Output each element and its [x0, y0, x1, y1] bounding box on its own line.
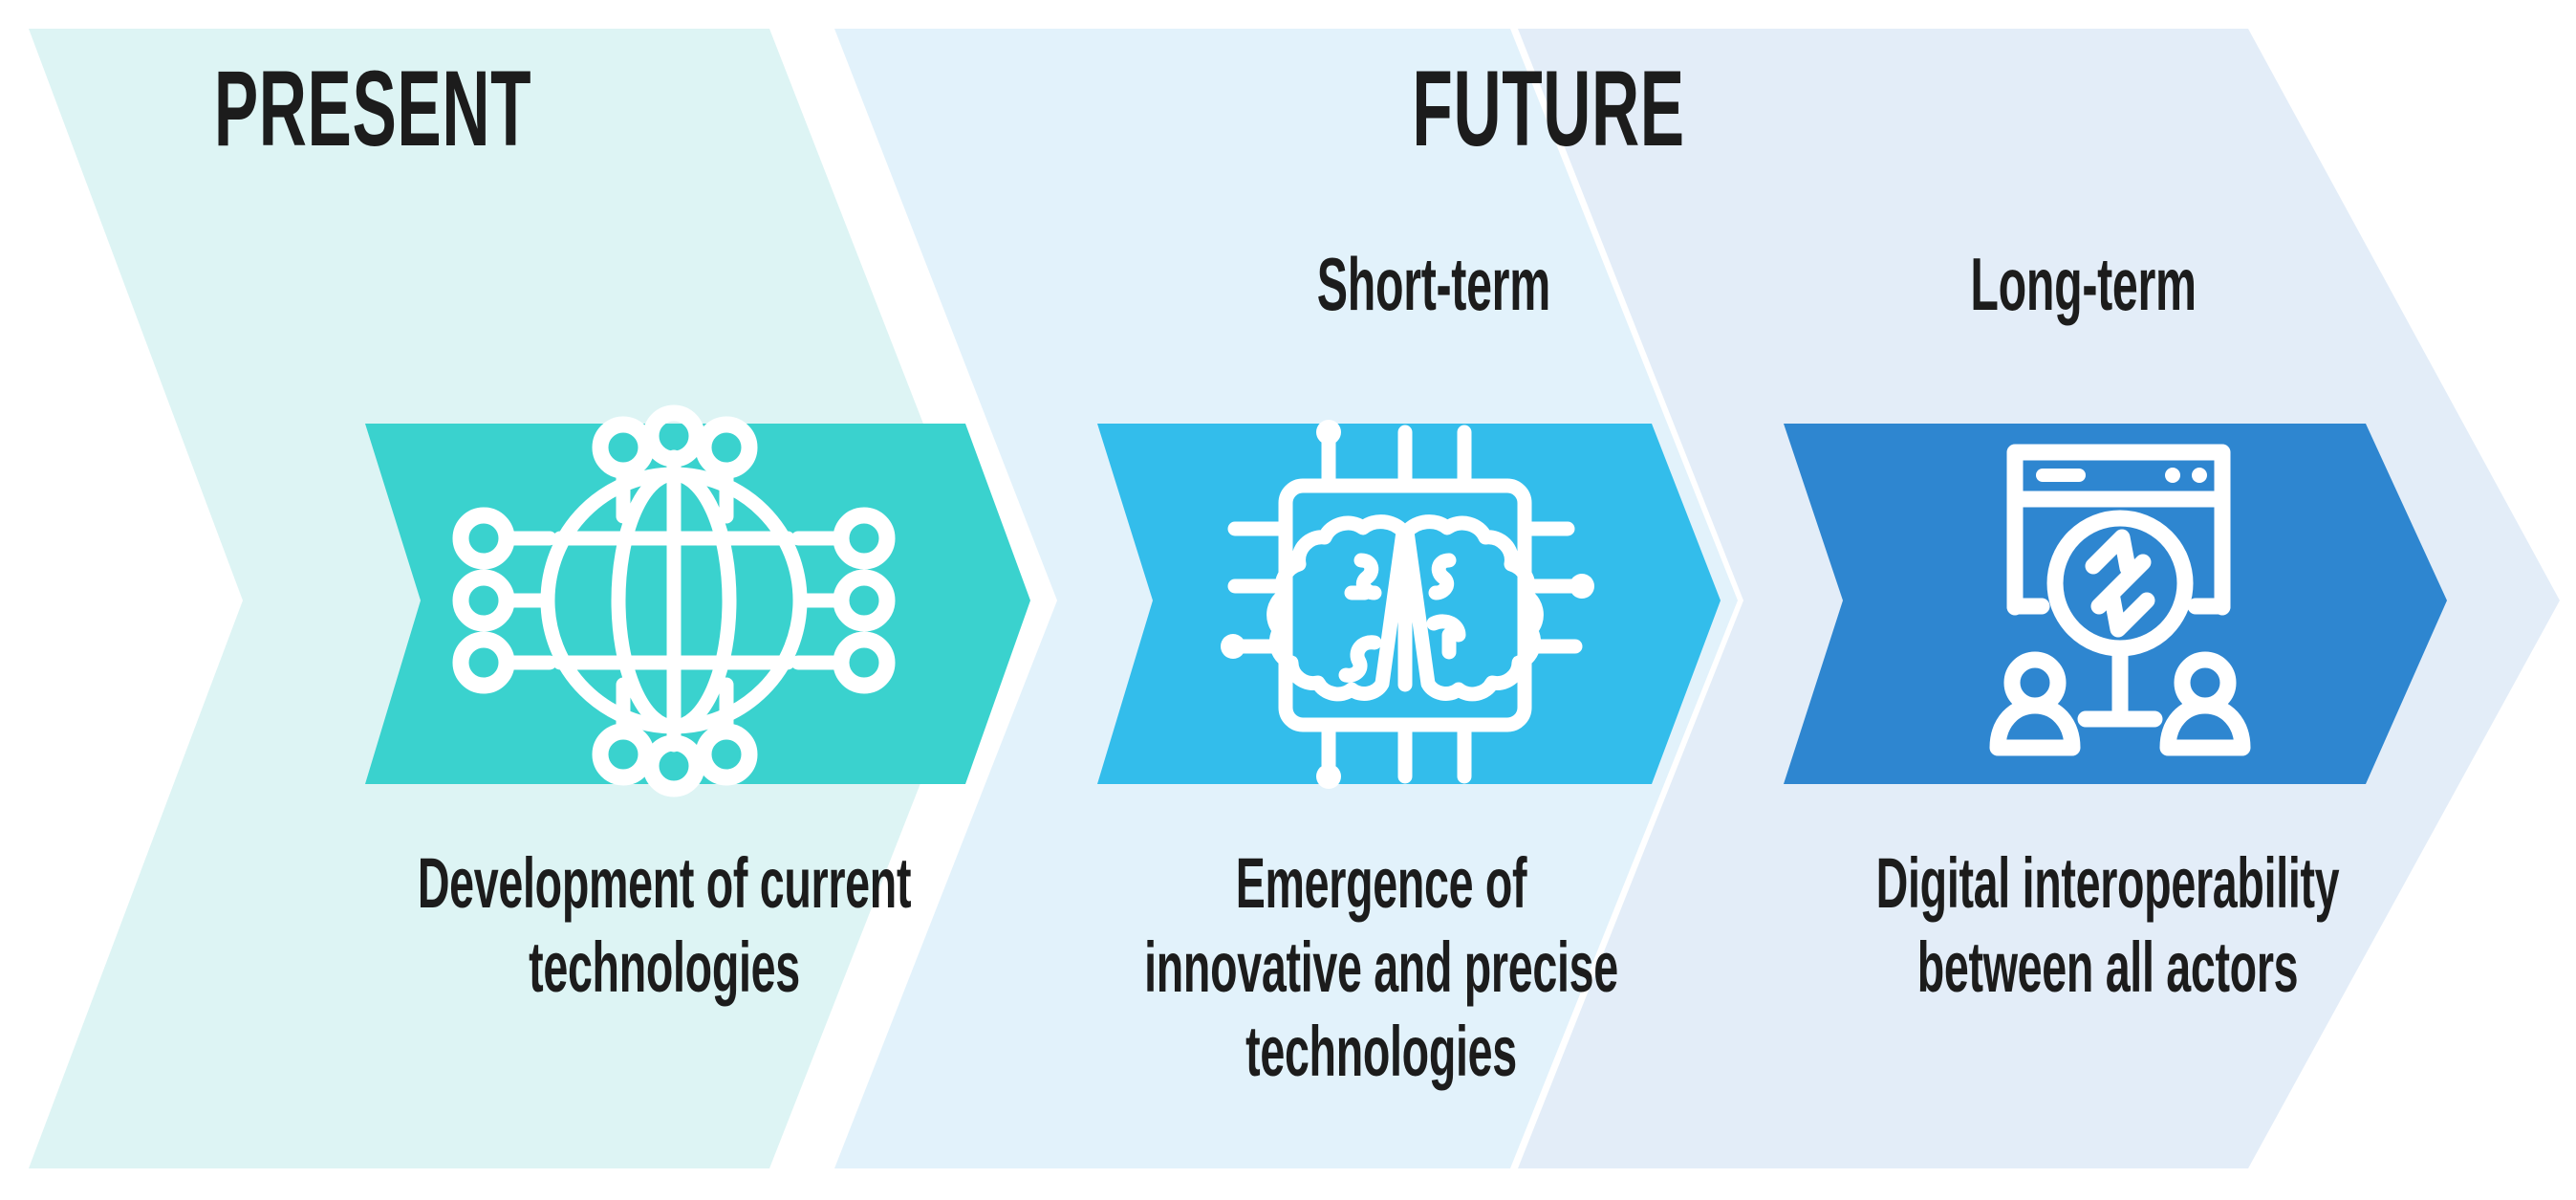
browser-dot [2192, 468, 2207, 483]
horizon-label-long-term: Long-term [1971, 247, 2197, 321]
caption-present-box: Development of current technologies [268, 841, 1061, 1052]
era-label-future: FUTURE [1412, 55, 1684, 163]
horizon-label-long-term-box: Long-term [1787, 247, 2380, 338]
browser-dot [2165, 468, 2180, 483]
caption-short-term-box: Emergence of innovative and precise tech… [985, 841, 1778, 1128]
chevron-roadmap-diagram: PRESENT FUTURE Short-term Long-term Deve… [0, 0, 2576, 1200]
caption-long-term: Digital interoperability between all act… [1858, 841, 2358, 1010]
era-label-future-box: FUTURE [1348, 55, 1749, 170]
browser-url-bar [2036, 469, 2086, 482]
caption-long-term-box: Digital interoperability between all act… [1711, 841, 2504, 1052]
era-label-present-box: PRESENT [172, 55, 574, 170]
era-label-present: PRESENT [214, 55, 531, 163]
horizon-label-short-term: Short-term [1317, 247, 1550, 321]
caption-short-term: Emergence of innovative and precise tech… [1132, 841, 1632, 1094]
caption-present: Development of current technologies [415, 841, 915, 1010]
horizon-label-short-term-box: Short-term [1137, 247, 1730, 338]
